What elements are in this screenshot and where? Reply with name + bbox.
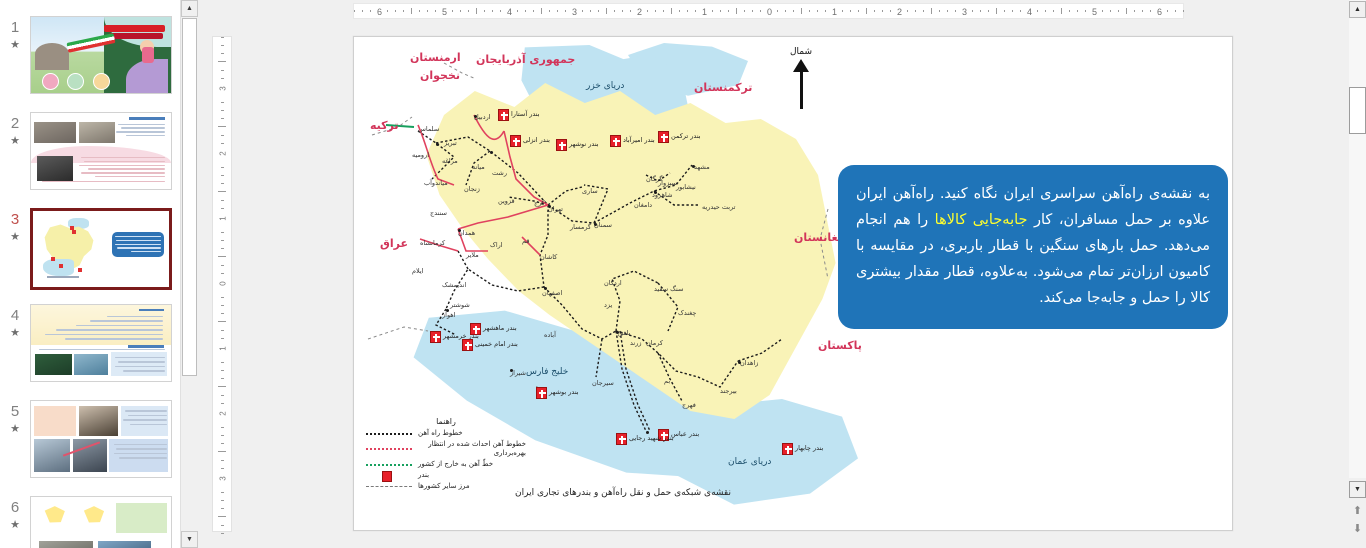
ruler-tick: [533, 10, 534, 12]
slide-number-1: 1: [11, 20, 19, 36]
ruler-tick: [435, 10, 436, 12]
country-label: ترکیه: [370, 119, 399, 132]
ruler-tick: [484, 10, 485, 12]
legend-label: خطوط آهن احداث شده در انتظار بهره‌برداری: [418, 440, 526, 458]
ruler-tick: [565, 10, 566, 12]
ruler-tick: [915, 10, 916, 12]
ruler-tick: [221, 135, 224, 136]
city-label: آباده: [544, 331, 556, 339]
ruler-tick-label: 5: [442, 7, 447, 17]
ruler-tick: [1004, 10, 1005, 12]
ruler-tick: [221, 435, 224, 436]
city-label: زنجان: [464, 185, 480, 193]
ruler-tick: [720, 10, 721, 12]
city-label: سبزوار: [658, 179, 677, 187]
ruler-tick: [598, 10, 599, 12]
port-marker-icon: [462, 339, 473, 351]
ruler-tick: [825, 10, 826, 12]
slide-thumbnail-4[interactable]: 4 ★: [0, 304, 180, 382]
slide-meta-3: 3 ★: [0, 208, 30, 290]
ruler-tick: [1061, 8, 1062, 14]
ruler-tick-label: 0: [219, 274, 228, 294]
slide-meta-4: 4 ★: [0, 304, 30, 382]
country-label: نخجوان: [420, 69, 460, 82]
lesson-text-box[interactable]: به نقشه‌ی راه‌آهن سراسری ایران نگاه کنید…: [838, 165, 1228, 329]
city-label: ملایر: [466, 251, 479, 259]
port-label: بندر ماهشهر: [483, 324, 517, 332]
ruler-tick: [403, 10, 404, 12]
city-label: همدان: [458, 229, 475, 237]
city-label: شیراز: [510, 369, 526, 377]
ruler-tick: [1053, 10, 1054, 12]
animation-star-icon: ★: [10, 326, 20, 340]
ruler-tick: [221, 403, 224, 404]
ruler-tick: [817, 10, 818, 12]
ruler-tick: [427, 10, 428, 12]
city-label: تبریز: [444, 139, 457, 147]
ruler-tick: [221, 533, 224, 534]
city-label: میاندوآب: [424, 179, 448, 187]
port-label: بندر آستارا: [511, 110, 540, 118]
ruler-tick: [221, 183, 224, 184]
ruler-tick: [1118, 10, 1119, 12]
ruler-tick: [452, 10, 453, 12]
ruler-tick: [221, 70, 224, 71]
ruler-tick-label: 1: [219, 209, 228, 229]
ruler-tick: [218, 126, 226, 127]
city-label: مراغه: [442, 157, 458, 165]
ruler-tick: [221, 305, 224, 306]
animation-star-icon: ★: [10, 518, 20, 532]
ruler-tick-label: 1: [702, 7, 707, 17]
slide-1-graphic: [31, 17, 171, 93]
sea-label: دریای عمان: [728, 457, 771, 467]
ruler-tick: [736, 8, 737, 14]
ruler-tick: [809, 10, 810, 12]
ruler-tick: [988, 10, 989, 12]
ruler-tick: [1102, 10, 1103, 12]
slide-6-graphic: [31, 497, 171, 548]
ruler-tick: [801, 8, 802, 14]
port-marker-icon: [498, 109, 509, 121]
ruler-tick: [582, 10, 583, 12]
ruler-tick: [221, 338, 224, 339]
highlighted-phrase: جابه‌جایی کالاها: [935, 212, 1028, 228]
port-label: بندر انزلی: [523, 136, 550, 144]
city-label: شوشتر: [450, 301, 470, 309]
city-label: رشت: [492, 169, 507, 177]
ruler-tick: [712, 10, 713, 12]
ruler-tick: [1142, 10, 1143, 12]
slide-number-2: 2: [11, 116, 19, 132]
ruler-tick: [221, 500, 224, 501]
north-arrow-label: شمال: [781, 47, 821, 57]
port-marker-icon: [536, 387, 547, 399]
ruler-tick-label: 3: [219, 79, 228, 99]
city-label: اردکان: [604, 279, 622, 287]
city-label: کرمانشاه: [420, 239, 445, 247]
city-label: سلماس: [418, 125, 439, 133]
ruler-tick: [939, 10, 940, 12]
ruler-tick: [785, 10, 786, 12]
city-label: کاشان: [540, 253, 557, 261]
ruler-tick: [221, 78, 224, 79]
slide-2-graphic: [31, 113, 171, 189]
slide-thumbnail-5[interactable]: 5 ★: [0, 400, 180, 478]
ruler-tick: [221, 175, 224, 176]
ruler-tick: [221, 313, 224, 314]
ruler-tick: [1175, 10, 1176, 12]
city-label: فهرج: [682, 401, 696, 409]
ruler-tick: [842, 10, 843, 12]
ruler-tick: [923, 10, 924, 12]
ruler-tick-label: 3: [219, 469, 228, 489]
ruler-tick: [221, 110, 224, 111]
city-label: یزد: [604, 301, 612, 309]
ruler-tick: [218, 256, 226, 257]
city-label: سیرجان: [592, 379, 614, 387]
ruler-tick: [1077, 10, 1078, 12]
ruler-tick: [419, 10, 420, 12]
scroll-down-button[interactable]: ▼: [1349, 481, 1366, 498]
ruler-tick: [1012, 10, 1013, 12]
ruler-tick: [679, 10, 680, 12]
slide-thumbnail-6[interactable]: 6 ★: [0, 496, 180, 548]
horizontal-ruler[interactable]: 6543210123456: [353, 3, 1184, 19]
slide-number-3: 3: [11, 212, 19, 228]
legend-title: راهنما: [366, 417, 526, 426]
ruler-tick: [221, 460, 224, 461]
ruler-tick: [760, 10, 761, 12]
ruler-tick: [221, 37, 224, 38]
ruler-tick: [221, 395, 224, 396]
port-marker-icon: [610, 135, 621, 147]
city-label: اردبیل: [474, 113, 491, 121]
city-label: تهران: [548, 205, 563, 213]
ruler-tick: [777, 10, 778, 12]
ruler-tick: [955, 10, 956, 12]
ruler-tick: [1134, 10, 1135, 12]
ruler-tick: [655, 10, 656, 12]
ruler-tick: [996, 8, 997, 14]
city-label: سنندج: [430, 209, 447, 217]
scroll-up-button[interactable]: ▲: [1349, 1, 1366, 18]
legend-item-port: بندر: [366, 471, 526, 480]
slide-meta-5: 5 ★: [0, 400, 30, 478]
ruler-tick: [218, 61, 226, 62]
slide-canvas-6[interactable]: [30, 496, 172, 548]
port-marker-icon: [510, 135, 521, 147]
ruler-tick: [221, 468, 224, 469]
ruler-tick-label: 4: [1027, 7, 1032, 17]
ruler-tick-label: 3: [572, 7, 577, 17]
ruler-tick: [492, 10, 493, 12]
powerpoint-window: 1 ★: [0, 0, 1366, 548]
ruler-tick: [221, 143, 224, 144]
current-slide[interactable]: جمهوری آذربایجانارمنستاننخجوانترکمنستانت…: [353, 36, 1233, 531]
ruler-tick-label: 2: [219, 144, 228, 164]
city-label: کرمان: [646, 339, 663, 347]
city-label: ارومیه: [412, 151, 429, 159]
ruler-tick: [221, 240, 224, 241]
ruler-tick: [218, 321, 226, 322]
slide-editing-area[interactable]: جمهوری آذربایجانارمنستاننخجوانترکمنستانت…: [232, 20, 1330, 548]
ruler-tick: [218, 386, 226, 387]
legend-swatch-dotted-pink: [366, 445, 412, 453]
ruler-tick: [221, 492, 224, 493]
ruler-tick: [850, 10, 851, 12]
ruler-tick: [647, 10, 648, 12]
ruler-tick: [221, 208, 224, 209]
slide-thumbnail-1[interactable]: 1 ★: [0, 16, 180, 94]
sea-label: دریای خزر: [586, 81, 624, 91]
ruler-tick: [221, 102, 224, 103]
ruler-tick-label: 1: [832, 7, 837, 17]
city-dot: [436, 143, 439, 146]
city-label: اندیمشک: [442, 281, 466, 289]
ruler-tick-label: 2: [897, 7, 902, 17]
country-label: ارمنستان: [410, 51, 461, 64]
city-label: تربت حیدریه: [702, 203, 735, 211]
ruler-tick: [907, 10, 908, 12]
slide-meta-1: 1 ★: [0, 16, 30, 94]
ruler-tick: [614, 10, 615, 12]
ruler-tick: [1037, 10, 1038, 12]
ruler-tick-label: 1: [219, 339, 228, 359]
scrollbar-thumb[interactable]: [1349, 87, 1366, 134]
vertical-ruler[interactable]: 3210123: [212, 36, 232, 532]
ruler-tick: [1085, 10, 1086, 12]
ruler-tick: [947, 10, 948, 12]
thumbnail-scrollbar-thumb[interactable]: [182, 18, 197, 376]
ruler-tick: [1069, 10, 1070, 12]
port-label: بندر نوشهر: [569, 140, 599, 148]
ruler-tick: [387, 10, 388, 12]
ruler-tick: [221, 53, 224, 54]
city-label: گرمسار: [570, 223, 591, 231]
legend-item-under-construction: خطوط آهن احداث شده در انتظار بهره‌برداری: [366, 440, 526, 458]
ruler-tick: [890, 10, 891, 12]
animation-star-icon: ★: [10, 230, 20, 244]
city-label: چغندک: [678, 309, 696, 317]
port-label: بندر بوشهر: [549, 388, 579, 396]
ruler-tick: [549, 10, 550, 12]
ruler-tick-label: 2: [637, 7, 642, 17]
ruler-tick: [221, 265, 224, 266]
thumbnail-pane-scrollbar[interactable]: ▲ ▼: [180, 0, 197, 548]
city-label: میانه: [472, 163, 485, 171]
legend-item-railway: خطوط راه آهن: [366, 429, 526, 438]
ruler-tick: [1126, 8, 1127, 14]
country-label: پاکستان: [818, 339, 862, 352]
slide-thumbnail-pane[interactable]: 1 ★: [0, 0, 180, 548]
ruler-tick: [630, 10, 631, 12]
city-label: زاهدان: [740, 359, 758, 367]
slide-number-4: 4: [11, 308, 19, 324]
main-vertical-scrollbar[interactable]: ▲ ▼ ⬆ ⬇: [1347, 0, 1366, 548]
legend-label: خطوط راه آهن: [418, 429, 463, 438]
slide-thumbnail-3[interactable]: 3 ★: [0, 208, 180, 290]
ruler-tick: [972, 10, 973, 12]
ruler-tick: [858, 10, 859, 12]
animation-star-icon: ★: [10, 134, 20, 148]
north-arrow-icon: شمال: [783, 51, 819, 109]
slide-meta-2: 2 ★: [0, 112, 30, 190]
ruler-tick: [882, 10, 883, 12]
ruler-tick-label: 4: [507, 7, 512, 17]
ruler-tick: [695, 10, 696, 12]
ruler-tick: [606, 8, 607, 14]
ruler-tick: [362, 10, 363, 12]
slide-3-graphic: [33, 211, 169, 287]
scrollbar-track[interactable]: [1349, 0, 1366, 478]
ruler-tick: [221, 378, 224, 379]
ruler-tick: [221, 525, 224, 526]
ruler-tick: [411, 8, 412, 14]
ruler-tick: [557, 10, 558, 12]
ruler-tick: [980, 10, 981, 12]
city-dot: [490, 151, 493, 154]
city-label: مشهد: [694, 163, 710, 171]
ruler-tick: [218, 451, 226, 452]
ruler-tick: [663, 10, 664, 12]
ruler-tick: [671, 8, 672, 14]
port-label: بندر امیرآباد: [623, 136, 655, 144]
ruler-tick: [221, 232, 224, 233]
city-label: سمنان: [594, 221, 612, 229]
city-label: قم: [522, 237, 529, 245]
city-label: قزوین: [498, 197, 515, 205]
city-label: بم: [664, 377, 670, 385]
legend-item-border: مرز سایر کشورها: [366, 482, 526, 491]
previous-slide-button[interactable]: ⬆: [1351, 503, 1364, 518]
country-label: عراق: [380, 237, 408, 250]
port-marker-icon: [658, 131, 669, 143]
port-marker-icon: [556, 139, 567, 151]
ruler-tick: [460, 10, 461, 12]
city-label: اهواز: [442, 311, 456, 319]
ruler-tick: [541, 8, 542, 14]
map-legend: راهنما خطوط راه آهن خطوط آهن احداث شده د…: [366, 417, 526, 493]
ruler-tick: [931, 8, 932, 14]
iran-railway-map[interactable]: جمهوری آذربایجانارمنستاننخجوانترکمنستانت…: [358, 39, 898, 529]
ruler-tick: [687, 10, 688, 12]
ruler-tick-label: 2: [219, 404, 228, 424]
legend-swatch-port-marker: [366, 472, 412, 480]
ruler-tick-label: 6: [377, 7, 382, 17]
ruler-tick: [866, 8, 867, 14]
ruler-tick: [221, 370, 224, 371]
thumbnail-scroll-up-button[interactable]: ▲: [181, 0, 198, 17]
city-label: کرج: [534, 199, 545, 207]
slide-number-5: 5: [11, 404, 19, 420]
legend-item-international-line: خطّ آهن به خارج از کشور: [366, 460, 526, 469]
port-marker-icon: [470, 323, 481, 335]
slide-canvas-1[interactable]: [30, 16, 172, 94]
ruler-tick: [1150, 10, 1151, 12]
ruler-tick: [221, 508, 224, 509]
ruler-tick: [218, 516, 226, 517]
ruler-tick: [752, 10, 753, 12]
ruler-tick: [728, 10, 729, 12]
sea-label: خلیج فارس: [526, 367, 568, 377]
city-label: شاهرود: [652, 191, 672, 199]
ruler-tick: [221, 427, 224, 428]
slide-canvas-4[interactable]: [30, 304, 172, 382]
slide-thumbnail-2[interactable]: 2 ★: [0, 112, 180, 190]
thumbnail-scroll-down-button[interactable]: ▼: [181, 531, 198, 548]
port-label: بندر عباس: [671, 430, 699, 438]
legend-label: خطّ آهن به خارج از کشور: [418, 460, 493, 469]
ruler-tick: [1045, 10, 1046, 12]
slide-canvas-2[interactable]: [30, 112, 172, 190]
ruler-tick: [525, 10, 526, 12]
ruler-tick: [221, 297, 224, 298]
city-label: دامغان: [634, 201, 652, 209]
legend-label: بندر: [418, 471, 429, 480]
legend-swatch-dotted-green: [366, 461, 412, 469]
ruler-tick-label: 3: [962, 7, 967, 17]
ruler-tick: [590, 10, 591, 12]
ruler-tick: [221, 248, 224, 249]
ruler-tick: [218, 191, 226, 192]
next-slide-button[interactable]: ⬇: [1351, 521, 1364, 536]
slide-number-6: 6: [11, 500, 19, 516]
ruler-tick: [793, 10, 794, 12]
slide-canvas-3[interactable]: [30, 208, 172, 290]
city-label: بیرجند: [720, 387, 737, 395]
ruler-tick: [874, 10, 875, 12]
ruler-tick: [744, 10, 745, 12]
ruler-tick: [221, 118, 224, 119]
ruler-tick: [221, 443, 224, 444]
ruler-tick-label: 5: [1092, 7, 1097, 17]
ruler-tick: [1183, 10, 1184, 12]
ruler-tick: [221, 45, 224, 46]
country-label: جمهوری آذربایجان: [476, 53, 575, 66]
map-title: نقشه‌ی شبکه‌ی حمل و نقل راه‌آهن و بندرها…: [508, 487, 738, 500]
port-label: بندر امام خمینی: [475, 340, 518, 348]
city-label: نیشابور: [676, 183, 696, 191]
slide-meta-6: 6 ★: [0, 496, 30, 548]
legend-label: مرز سایر کشورها: [418, 482, 470, 491]
slide-5-graphic: [31, 401, 171, 477]
port-label: بندر ترکمن: [671, 132, 701, 140]
city-label: ساری: [582, 187, 598, 195]
slide-canvas-5[interactable]: [30, 400, 172, 478]
ruler-tick: [1167, 10, 1168, 12]
city-label: اراک: [490, 241, 503, 249]
port-marker-icon: [430, 331, 441, 343]
city-label: زرند: [630, 339, 642, 347]
country-label: ترکمنستان: [694, 81, 752, 94]
ruler-tick: [622, 10, 623, 12]
port-marker-icon: [782, 443, 793, 455]
ruler-tick: [395, 10, 396, 12]
port-label: بندر شهید رجایی: [629, 434, 674, 442]
ruler-tick: [221, 330, 224, 331]
ruler-tick: [221, 273, 224, 274]
slide-4-graphic: [31, 305, 171, 381]
ruler-tick-label: 6: [1157, 7, 1162, 17]
ruler-tick: [221, 167, 224, 168]
port-label: بندر چابهار: [795, 444, 823, 452]
ruler-tick: [221, 200, 224, 201]
animation-star-icon: ★: [10, 38, 20, 52]
city-label: اصفهان: [542, 289, 562, 297]
ruler-tick: [500, 10, 501, 12]
city-label: ایلام: [412, 267, 424, 275]
